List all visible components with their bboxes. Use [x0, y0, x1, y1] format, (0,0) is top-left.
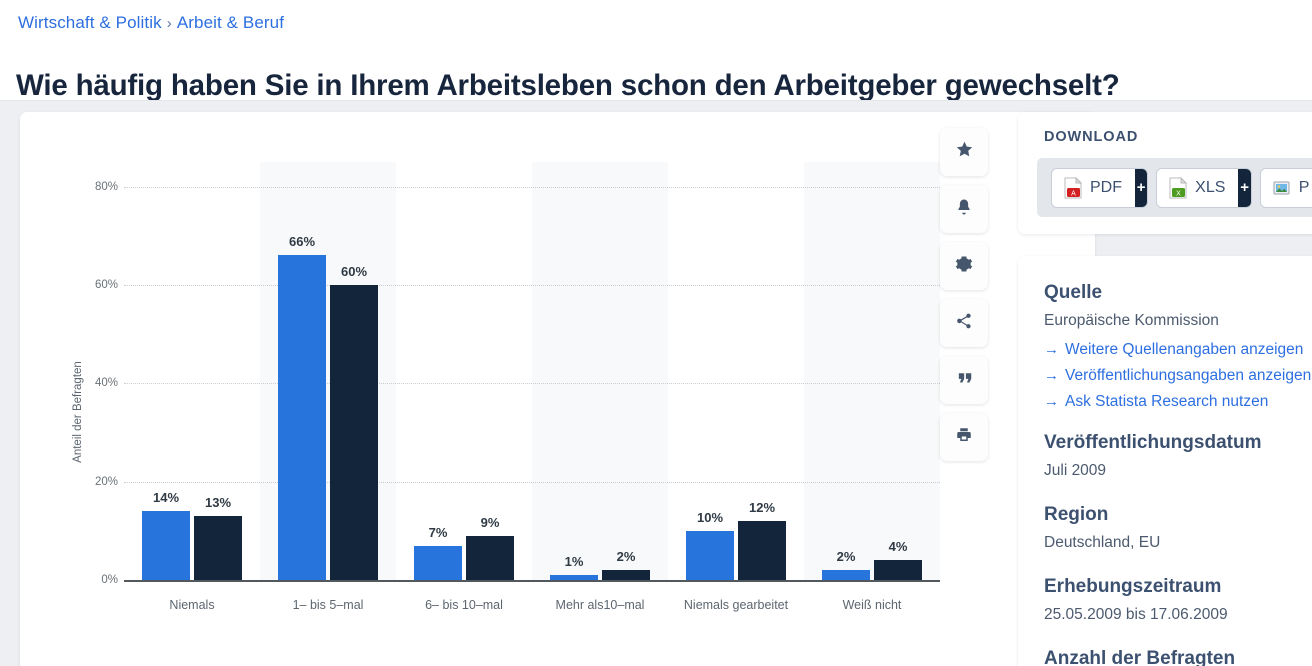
bar-deutschland[interactable]: 1%	[550, 575, 598, 580]
y-axis-tick-label: 0%	[72, 574, 118, 586]
bar-deutschland[interactable]: 7%	[414, 546, 462, 580]
citation-quote-button[interactable]	[940, 356, 988, 404]
pdf-file-icon: A	[1063, 177, 1083, 199]
download-pdf-plus[interactable]: +	[1135, 169, 1147, 207]
download-xls-plus[interactable]: +	[1238, 169, 1250, 207]
spacer-4	[1044, 631, 1312, 646]
arrow-icon-0: →	[1044, 341, 1059, 358]
bar-deutschland[interactable]: 14%	[142, 511, 190, 580]
bar-value-label: 7%	[429, 525, 448, 540]
bar-eu27[interactable]: 13%	[194, 516, 242, 580]
pubdate-value: Juli 2009	[1044, 459, 1312, 483]
download-xls-main[interactable]: X XLS	[1157, 169, 1238, 207]
gridline	[124, 482, 940, 483]
gridline	[124, 383, 940, 384]
png-image-icon	[1272, 177, 1292, 199]
download-png-label: P	[1299, 179, 1310, 197]
download-xls-label: XLS	[1195, 179, 1225, 197]
bar-value-label: 60%	[341, 264, 367, 279]
notification-bell-icon	[955, 198, 973, 221]
spacer-2	[1044, 487, 1312, 502]
more-source-link[interactable]: →Weitere Quellenangaben anzeigen	[1044, 337, 1312, 363]
gridline	[124, 187, 940, 188]
bar-eu27[interactable]: 2%	[602, 570, 650, 580]
share-icon	[955, 312, 973, 335]
breadcrumb-separator: ›	[167, 15, 172, 32]
ask-statista-link-label: Ask Statista Research nutzen	[1065, 393, 1268, 410]
bar-eu27[interactable]: 9%	[466, 536, 514, 580]
more-source-link-label: Weitere Quellenangaben anzeigen	[1065, 341, 1303, 358]
period-heading: Erhebungszeitraum	[1044, 574, 1312, 600]
download-button-strip: A PDF + X	[1037, 158, 1312, 217]
favorite-star-icon	[955, 140, 974, 164]
notification-bell-button[interactable]	[940, 185, 988, 233]
gridline	[124, 285, 940, 286]
y-axis-tick-label: 40%	[72, 377, 118, 389]
svg-text:X: X	[1176, 190, 1181, 197]
download-xls-button[interactable]: X XLS +	[1157, 169, 1251, 207]
download-pdf-label: PDF	[1090, 179, 1122, 197]
download-card: DOWNLOAD A PDF +	[1018, 112, 1312, 234]
print-button[interactable]	[940, 413, 988, 461]
x-axis-category-label: Weiß nicht	[843, 598, 902, 612]
download-pdf-button[interactable]: A PDF +	[1052, 169, 1147, 207]
print-icon	[955, 426, 973, 449]
citation-quote-icon	[956, 369, 973, 391]
bar-value-label: 12%	[749, 500, 775, 515]
period-value: 25.05.2009 bis 17.06.2009	[1044, 603, 1312, 627]
y-axis-tick-label: 80%	[72, 181, 118, 193]
spacer-1	[1044, 415, 1312, 430]
share-button[interactable]	[940, 299, 988, 347]
bar-deutschland[interactable]: 2%	[822, 570, 870, 580]
bar-eu27[interactable]: 60%	[330, 285, 378, 580]
bar-value-label: 66%	[289, 234, 315, 249]
bar-chart: Anteil der Befragten 0%20%40%60%80%14%13…	[20, 112, 1095, 666]
bar-eu27[interactable]: 4%	[874, 560, 922, 580]
bar-value-label: 9%	[481, 515, 500, 530]
download-title: DOWNLOAD	[1044, 129, 1138, 145]
ask-statista-link[interactable]: →Ask Statista Research nutzen	[1044, 389, 1312, 415]
favorite-star-button[interactable]	[940, 128, 988, 176]
bar-value-label: 1%	[565, 554, 584, 569]
breadcrumb-item-1[interactable]: Arbeit & Beruf	[177, 13, 284, 32]
download-pdf-main[interactable]: A PDF	[1052, 169, 1135, 207]
arrow-icon-1: →	[1044, 367, 1059, 384]
bar-deutschland[interactable]: 10%	[686, 531, 734, 580]
statista-chart-page: Wirtschaft & Politik›Arbeit & Beruf Wie …	[0, 0, 1312, 666]
x-axis-category-label: 6– bis 10–mal	[425, 598, 503, 612]
pubdate-heading: Veröffentlichungsdatum	[1044, 430, 1312, 456]
bar-value-label: 4%	[889, 539, 908, 554]
region-heading: Region	[1044, 502, 1312, 528]
y-axis-tick-label: 20%	[72, 476, 118, 488]
chart-card: Anteil der Befragten 0%20%40%60%80%14%13…	[20, 112, 1095, 666]
breadcrumb-item-0[interactable]: Wirtschaft & Politik	[18, 13, 162, 32]
bar-value-label: 2%	[837, 549, 856, 564]
download-png-main[interactable]: P	[1261, 169, 1312, 207]
bar-value-label: 10%	[697, 510, 723, 525]
x-axis-category-label: 1– bis 5–mal	[293, 598, 364, 612]
x-axis-category-label: Niemals	[169, 598, 214, 612]
bar-value-label: 2%	[617, 549, 636, 564]
chart-band	[532, 162, 668, 580]
info-card: Quelle Europäische Kommission →Weitere Q…	[1018, 256, 1312, 666]
arrow-icon-2: →	[1044, 393, 1059, 410]
xls-file-icon: X	[1168, 177, 1188, 199]
x-axis-category-label: Niemals gearbeitet	[684, 598, 788, 612]
download-png-button[interactable]: P +	[1261, 169, 1312, 207]
svg-text:A: A	[1071, 190, 1076, 197]
action-rail	[940, 128, 988, 470]
bar-value-label: 14%	[153, 490, 179, 505]
settings-gear-button[interactable]	[940, 242, 988, 290]
respondents-heading: Anzahl der Befragten	[1044, 646, 1312, 666]
source-heading: Quelle	[1044, 280, 1312, 306]
region-value: Deutschland, EU	[1044, 531, 1312, 555]
x-axis-category-label: Mehr als10–mal	[556, 598, 645, 612]
chart-band	[804, 162, 940, 580]
bar-eu27[interactable]: 12%	[738, 521, 786, 580]
breadcrumb: Wirtschaft & Politik›Arbeit & Beruf	[18, 12, 284, 35]
bar-deutschland[interactable]: 66%	[278, 255, 326, 580]
publication-details-link-label: Veröffentlichungsangaben anzeigen	[1065, 367, 1311, 384]
source-value: Europäische Kommission	[1044, 309, 1312, 333]
spacer-3	[1044, 559, 1312, 574]
bar-value-label: 13%	[205, 495, 231, 510]
settings-gear-icon	[955, 255, 973, 278]
x-axis-line	[124, 580, 940, 582]
y-axis-tick-label: 60%	[72, 279, 118, 291]
publication-details-link[interactable]: →Veröffentlichungsangaben anzeigen	[1044, 363, 1312, 389]
